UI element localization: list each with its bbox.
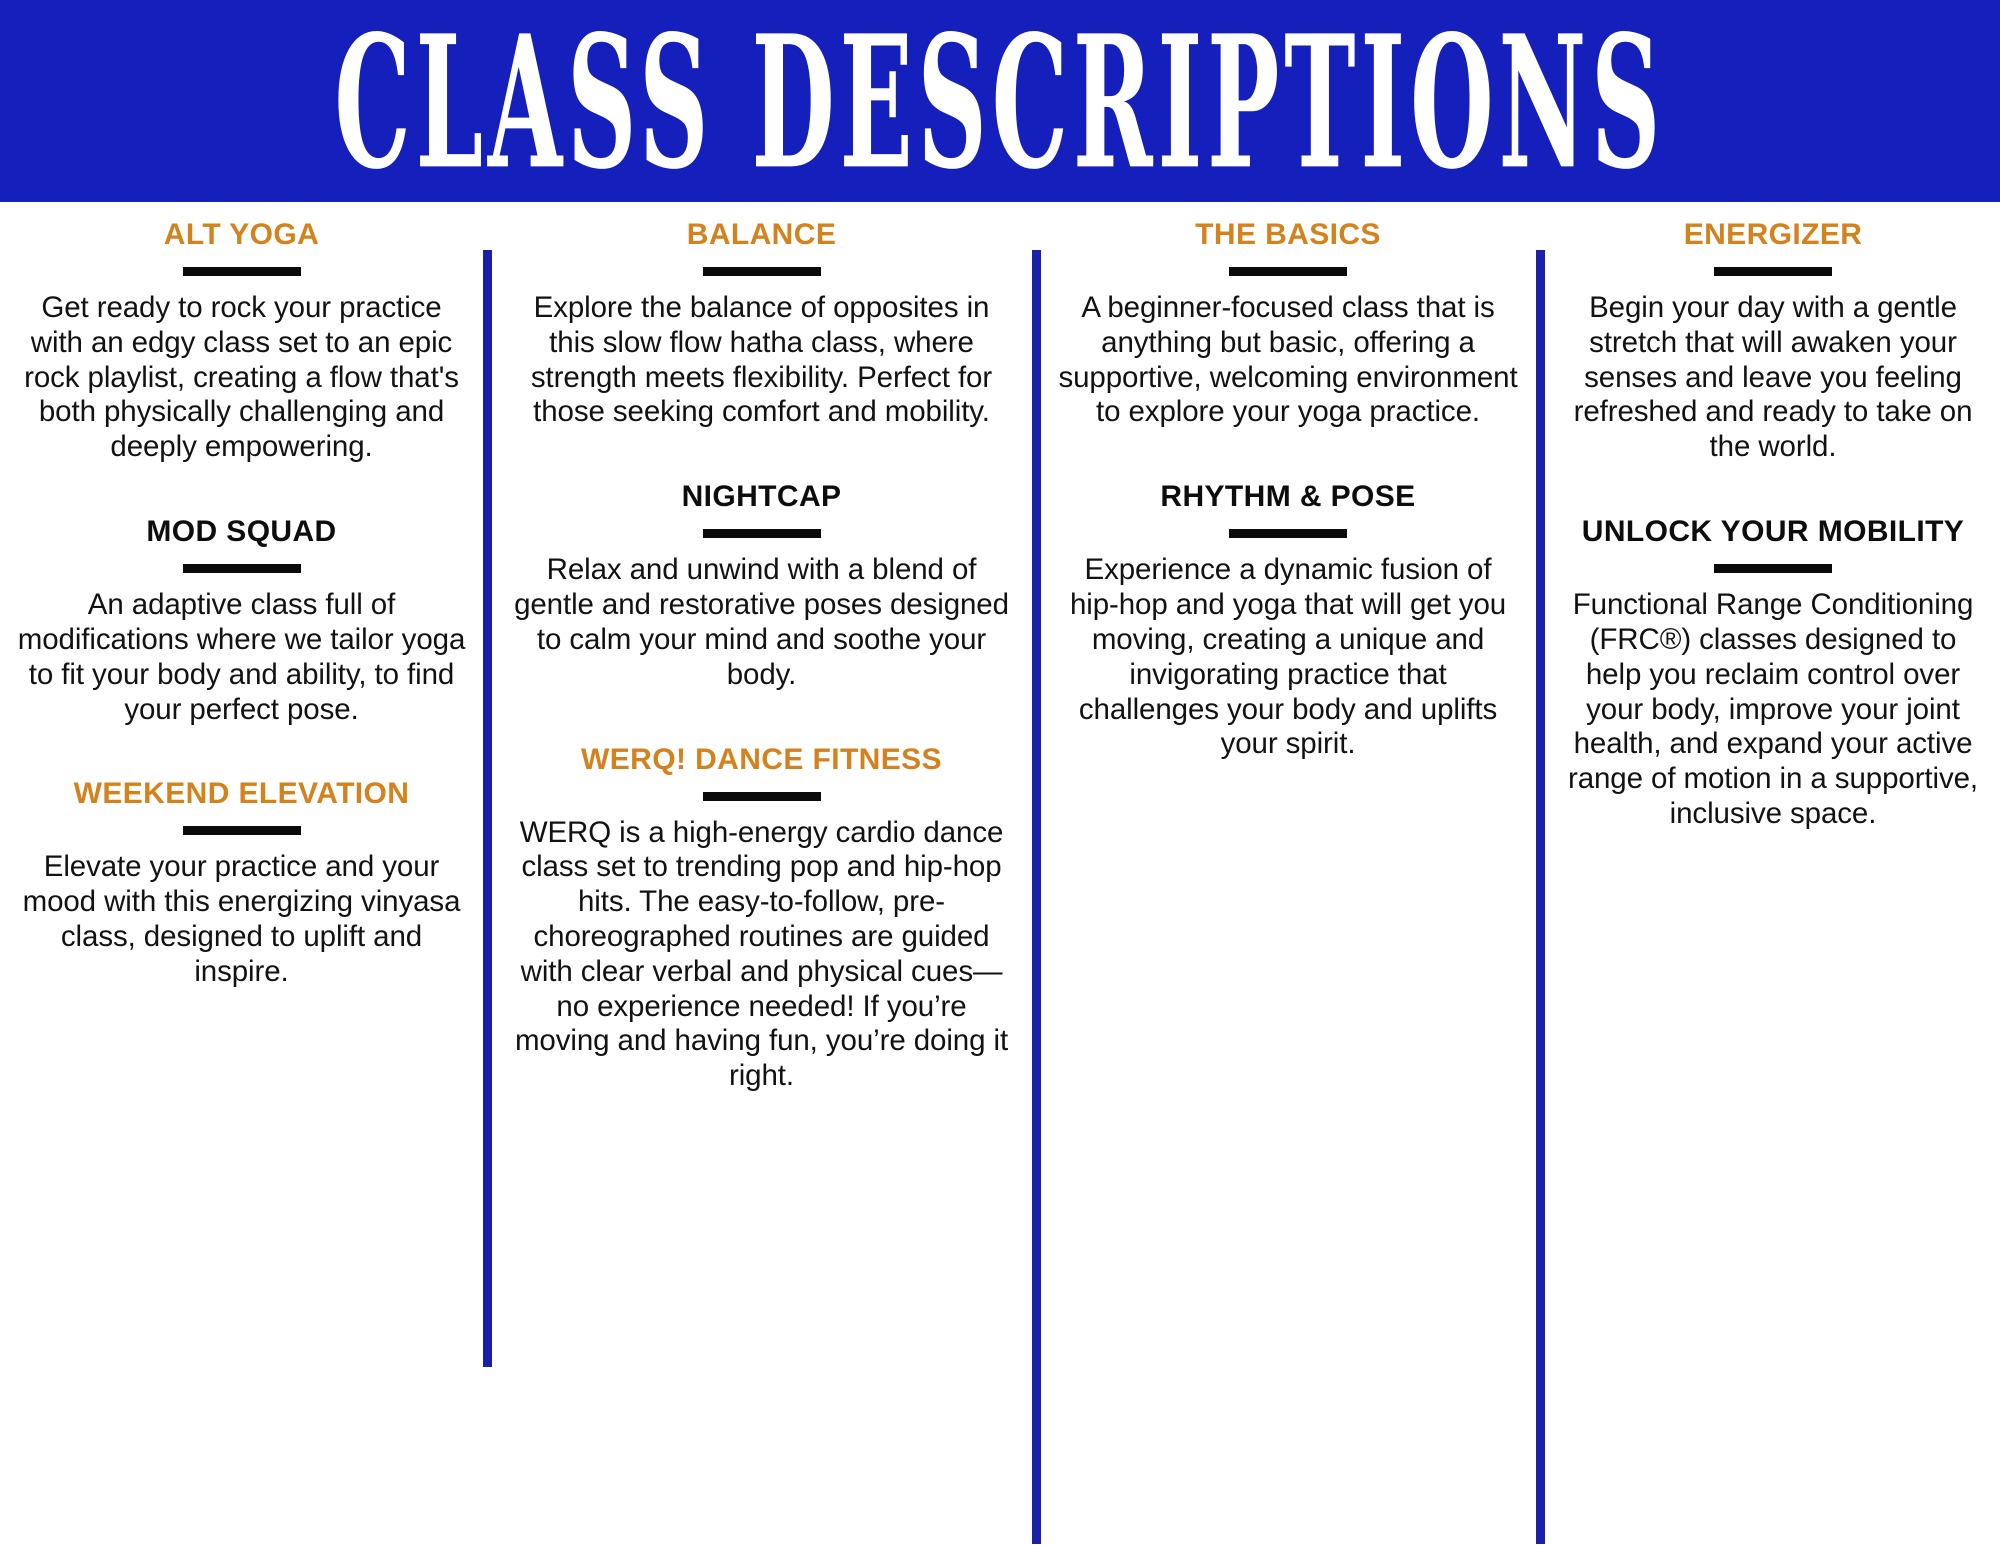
title-underline-rule xyxy=(1229,267,1347,276)
class-entry-werq-dance-fitness: WERQ! DANCE FITNESS WERQ is a high-energ… xyxy=(513,741,1010,1094)
column-divider-1 xyxy=(483,250,492,1367)
class-entry-weekend-elevation: WEEKEND ELEVATION Elevate your practice … xyxy=(16,775,467,989)
class-column-4: ENERGIZER Begin your day with a gentle s… xyxy=(1540,202,2000,832)
class-description-the-basics: A beginner-focused class that is anythin… xyxy=(1058,291,1518,430)
class-description-rhythm-and-pose: Experience a dynamic fusion of hip-hop a… xyxy=(1058,553,1518,762)
column-divider-3 xyxy=(1536,250,1545,1544)
column-divider-2 xyxy=(1032,250,1041,1544)
class-column-1: ALT YOGA Get ready to rock your practice… xyxy=(0,202,487,990)
class-entry-unlock-your-mobility: UNLOCK YOUR MOBILITY Functional Range Co… xyxy=(1558,513,1988,832)
class-entry-energizer: ENERGIZER Begin your day with a gentle s… xyxy=(1558,216,1988,465)
class-description-werq-dance-fitness: WERQ is a high-energy cardio dance class… xyxy=(513,816,1010,1094)
class-entry-rhythm-and-pose: RHYTHM & POSE Experience a dynamic fusio… xyxy=(1058,478,1518,762)
page-title: CLASS DESCRIPTIONS xyxy=(335,13,1666,195)
class-title-alt-yoga: ALT YOGA xyxy=(16,216,467,254)
class-title-mod-squad: MOD SQUAD xyxy=(16,513,467,551)
class-description-unlock-your-mobility: Functional Range Conditioning (FRC®) cla… xyxy=(1558,588,1988,832)
title-underline-rule xyxy=(1229,529,1347,538)
class-descriptions-grid: ALT YOGA Get ready to rock your practice… xyxy=(0,202,2000,1545)
class-description-balance: Explore the balance of opposites in this… xyxy=(513,291,1010,430)
class-title-werq-dance-fitness: WERQ! DANCE FITNESS xyxy=(513,741,1010,779)
title-underline-rule xyxy=(703,529,821,538)
class-entry-the-basics: THE BASICS A beginner-focused class that… xyxy=(1058,216,1518,430)
class-description-nightcap: Relax and unwind with a blend of gentle … xyxy=(513,553,1010,692)
class-column-2: BALANCE Explore the balance of opposites… xyxy=(487,202,1036,1094)
class-title-rhythm-and-pose: RHYTHM & POSE xyxy=(1058,478,1518,516)
title-underline-rule xyxy=(183,564,301,573)
page-header-banner: CLASS DESCRIPTIONS xyxy=(0,0,2000,202)
class-entry-nightcap: NIGHTCAP Relax and unwind with a blend o… xyxy=(513,478,1010,692)
class-entry-mod-squad: MOD SQUAD An adaptive class full of modi… xyxy=(16,513,467,727)
class-title-the-basics: THE BASICS xyxy=(1058,216,1518,254)
class-description-mod-squad: An adaptive class full of modifications … xyxy=(16,588,467,727)
title-underline-rule xyxy=(1714,564,1832,573)
title-underline-rule xyxy=(703,267,821,276)
title-underline-rule xyxy=(183,267,301,276)
class-description-alt-yoga: Get ready to rock your practice with an … xyxy=(16,291,467,465)
class-title-balance: BALANCE xyxy=(513,216,1010,254)
class-column-3: THE BASICS A beginner-focused class that… xyxy=(1036,202,1540,762)
class-title-unlock-your-mobility: UNLOCK YOUR MOBILITY xyxy=(1558,513,1988,551)
title-underline-rule xyxy=(703,792,821,801)
title-underline-rule xyxy=(183,826,301,835)
class-entry-balance: BALANCE Explore the balance of opposites… xyxy=(513,216,1010,430)
class-description-energizer: Begin your day with a gentle stretch tha… xyxy=(1558,291,1988,465)
class-title-energizer: ENERGIZER xyxy=(1558,216,1988,254)
class-title-nightcap: NIGHTCAP xyxy=(513,478,1010,516)
title-underline-rule xyxy=(1714,267,1832,276)
class-title-weekend-elevation: WEEKEND ELEVATION xyxy=(16,775,467,813)
class-description-weekend-elevation: Elevate your practice and your mood with… xyxy=(16,850,467,989)
class-entry-alt-yoga: ALT YOGA Get ready to rock your practice… xyxy=(16,216,467,465)
